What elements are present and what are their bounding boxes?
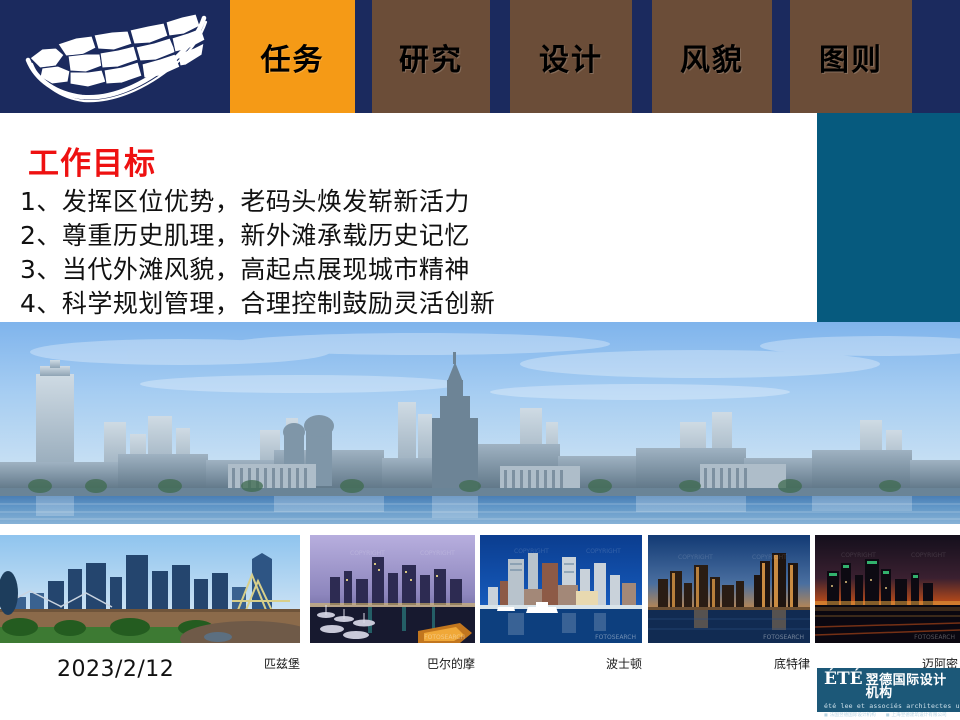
shanghai-bund-skyline-panorama: [0, 322, 960, 524]
baltimore-harbor-thumbnail[interactable]: FOTOSEARCH COPYRIGHT COPYRIGHT: [310, 535, 475, 643]
svg-text:FOTOSEARCH: FOTOSEARCH: [424, 634, 465, 641]
city-thumbnail-strip: FOTOSEARCH COPYRIGHT COPYRIGHT: [0, 535, 960, 647]
svg-text:FOTOSEARCH: FOTOSEARCH: [914, 634, 955, 641]
detroit-skyline-thumbnail[interactable]: FOTOSEARCH COPYRIGHT COPYRIGHT: [648, 535, 810, 643]
thumbnail-label-boston: 波士顿: [540, 655, 642, 671]
boston-waterfront-thumbnail[interactable]: FOTOSEARCH COPYRIGHT COPYRIGHT: [480, 535, 642, 643]
svg-text:FOTOSEARCH: FOTOSEARCH: [763, 634, 804, 641]
thumbnail-label-detroit: 底特律: [708, 655, 810, 671]
nav-tab-fengmao[interactable]: 风貌: [652, 0, 772, 113]
svg-text:FOTOSEARCH: FOTOSEARCH: [595, 634, 636, 641]
brand-latin-line: été lee et associés architectes urbanist…: [824, 702, 955, 710]
svg-text:COPYRIGHT: COPYRIGHT: [514, 548, 549, 555]
svg-text:COPYRIGHT: COPYRIGHT: [678, 554, 713, 561]
slide-date: 2023/2/12: [57, 657, 174, 682]
right-accent-panel: [817, 113, 960, 322]
svg-text:COPYRIGHT: COPYRIGHT: [586, 548, 621, 555]
list-item: 3、当代外滩风貌，高起点展现城市精神: [20, 253, 800, 287]
ete-brand-logo: ÉTÉ 翌德国际设计机构 été lee et associés archite…: [817, 668, 960, 712]
list-item: 4、科学规划管理，合理控制鼓励灵活创新: [20, 287, 800, 321]
slide-header: 任务 研究 设计 风貌 图则: [0, 0, 960, 113]
svg-text:COPYRIGHT: COPYRIGHT: [420, 550, 455, 557]
nav-tab-renwu[interactable]: 任务: [230, 0, 355, 113]
page-title: 工作目标: [28, 138, 156, 183]
thumbnail-label-baltimore: 巴尔的摩: [370, 655, 475, 671]
list-item: 2、尊重历史肌理，新外滩承载历史记忆: [20, 219, 800, 253]
nav-tab-yanjiu[interactable]: 研究: [372, 0, 490, 113]
brand-sub-right: 上海翌德建筑设计有限公司: [886, 712, 947, 718]
pittsburgh-skyline-thumbnail[interactable]: [0, 535, 300, 643]
slide-content: 工作目标 1、发挥区位优势，老码头焕发崭新活力 2、尊重历史肌理，新外滩承载历史…: [0, 113, 817, 322]
brand-mark: ÉTÉ: [824, 671, 863, 688]
brand-chinese-name: 翌德国际设计机构: [866, 674, 955, 700]
svg-text:COPYRIGHT: COPYRIGHT: [841, 552, 876, 559]
miami-skyline-thumbnail[interactable]: FOTOSEARCH COPYRIGHT COPYRIGHT: [815, 535, 960, 643]
svg-text:COPYRIGHT: COPYRIGHT: [911, 552, 946, 559]
site-plan-map-icon: [12, 8, 212, 108]
nav-tab-sheji[interactable]: 设计: [510, 0, 632, 113]
objectives-list: 1、发挥区位优势，老码头焕发崭新活力 2、尊重历史肌理，新外滩承载历史记忆 3、…: [20, 185, 800, 321]
list-item: 1、发挥区位优势，老码头焕发崭新活力: [20, 185, 800, 219]
brand-sub-left: 法国翌德国际设计机构: [824, 712, 876, 718]
svg-text:COPYRIGHT: COPYRIGHT: [752, 554, 787, 561]
thumbnail-label-pittsburgh: 匹兹堡: [200, 655, 300, 671]
svg-text:COPYRIGHT: COPYRIGHT: [350, 550, 385, 557]
nav-tab-tuze[interactable]: 图则: [790, 0, 912, 113]
